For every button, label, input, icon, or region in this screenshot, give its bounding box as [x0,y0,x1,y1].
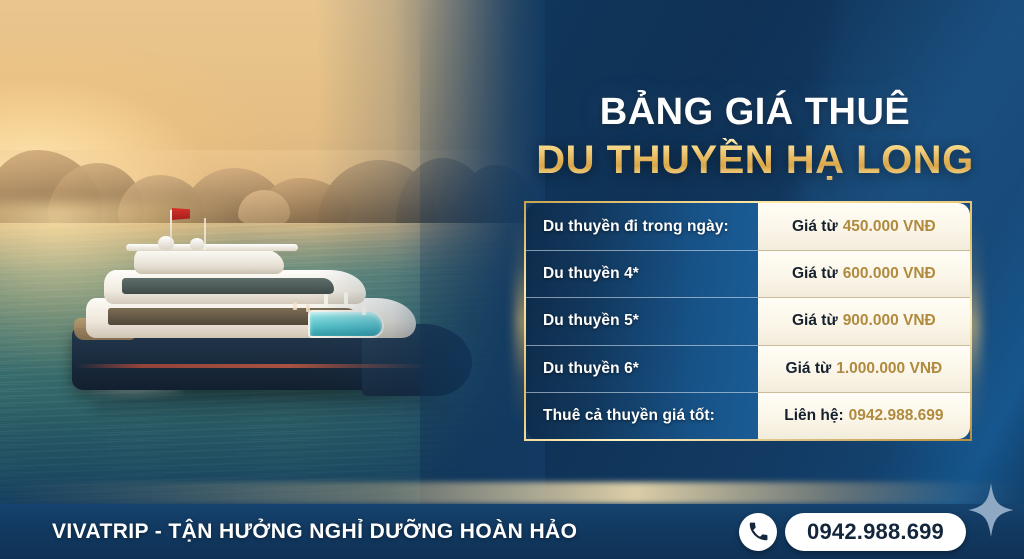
price-lead: Giá từ [786,360,832,378]
price-row-value: Giá từ 450.000 VNĐ [758,203,970,250]
price-table: Du thuyền đi trong ngày: Giá từ 450.000 … [524,201,972,441]
price-lead: Giá từ [792,265,838,283]
table-row[interactable]: Du thuyền 6* Giá từ 1.000.000 VNĐ [526,345,970,392]
yacht-mast [170,210,172,250]
headline-line-1: BẢNG GIÁ THUÊ [515,92,995,134]
price-table-body: Du thuyền đi trong ngày: Giá từ 450.000 … [524,201,972,441]
yacht-infinity-pool [308,310,384,338]
passenger [362,306,366,315]
price-lead: Giá từ [792,312,838,330]
promo-banner: BẢNG GIÁ THUÊ DU THUYỀN HẠ LONG Du thuyề… [0,0,1024,559]
yacht-waterline-stripe [76,364,432,368]
price-amount: 1.000.000 VNĐ [836,360,942,378]
footer-bar: VIVATRIP - TẬN HƯỞNG NGHỈ DƯỠNG HOÀN HẢO… [0,504,1024,559]
passenger [293,302,297,310]
table-row[interactable]: Du thuyền 4* Giá từ 600.000 VNĐ [526,250,970,297]
price-row-value: Giá từ 900.000 VNĐ [758,297,970,344]
passenger [344,292,348,304]
table-row[interactable]: Du thuyền 5* Giá từ 900.000 VNĐ [526,297,970,344]
phone-icon[interactable] [739,513,777,551]
yacht-bridge-windows [122,278,334,294]
yacht-sun-deck [134,248,284,274]
price-amount: 450.000 VNĐ [843,218,936,236]
vietnam-flag-icon [172,208,190,220]
passenger [306,304,310,312]
price-row-label: Thuê cả thuyền giá tốt: [526,392,758,439]
price-amount: 900.000 VNĐ [843,312,936,330]
footer-slogan: VIVATRIP - TẬN HƯỞNG NGHỈ DƯỠNG HOÀN HẢO [52,520,577,544]
price-row-value: Giá từ 1.000.000 VNĐ [758,345,970,392]
price-lead: Liên hệ: [784,407,843,425]
headline-line-2: DU THUYỀN HẠ LONG [515,138,995,183]
yacht-canopy [126,244,298,251]
price-amount: 600.000 VNĐ [843,265,936,283]
price-row-label: Du thuyền 4* [526,250,758,297]
phone-number[interactable]: 0942.988.699 [785,513,966,551]
luxury-yacht [62,232,462,432]
sparkle-icon [968,483,1014,537]
price-amount: 0942.988.699 [849,407,944,425]
price-lead: Giá từ [792,218,838,236]
page-title: BẢNG GIÁ THUÊ DU THUYỀN HẠ LONG [515,92,995,183]
price-row-value: Liên hệ: 0942.988.699 [758,392,970,439]
contact-group[interactable]: 0942.988.699 [739,513,966,551]
yacht-mast [204,218,206,250]
price-row-value: Giá từ 600.000 VNĐ [758,250,970,297]
price-row-label: Du thuyền 5* [526,297,758,344]
table-row[interactable]: Thuê cả thuyền giá tốt: Liên hệ: 0942.98… [526,392,970,439]
price-row-label: Du thuyền 6* [526,345,758,392]
table-row[interactable]: Du thuyền đi trong ngày: Giá từ 450.000 … [526,203,970,250]
passenger [324,294,328,305]
price-row-label: Du thuyền đi trong ngày: [526,203,758,250]
yacht-radome [190,238,204,250]
